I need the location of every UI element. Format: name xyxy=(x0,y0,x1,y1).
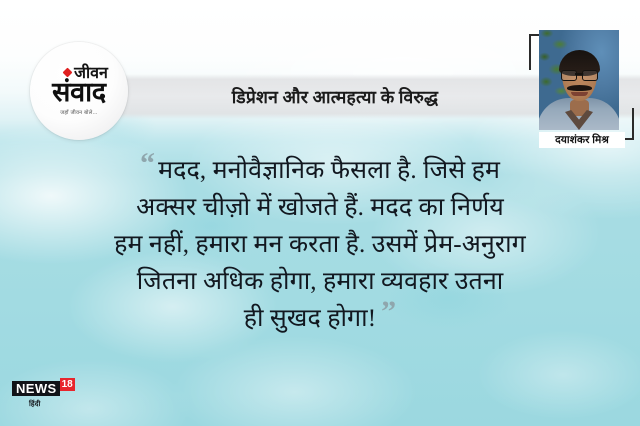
quote-line-text: ही सुखद होगा! xyxy=(244,305,376,332)
quote-line: ही सुखद होगा!” xyxy=(0,300,640,337)
author-photo xyxy=(539,30,619,130)
logo-tagline: जहाँ जीवन बोले... xyxy=(60,108,98,116)
photo-eyeglasses-icon xyxy=(561,70,598,80)
logo-word-jeevan: जीवन xyxy=(74,66,108,82)
quote-line: अक्सर चीज़ो में खोजते हैं. मदद का निर्णय xyxy=(0,189,640,226)
page-title: डिप्रेशन और आत्महत्या के विरुद्ध xyxy=(150,79,520,115)
quote-line-text: मदद, मनोवैज्ञानिक फैसला है. जिसे हम xyxy=(158,157,500,184)
logo-word-samvad: संवाद xyxy=(52,79,106,107)
photo-mouth xyxy=(571,92,588,96)
close-quote-icon: ” xyxy=(381,295,396,328)
news18-number-badge: 18 xyxy=(60,378,75,391)
logo-top-row: जीवन xyxy=(64,66,108,82)
open-quote-icon: “ xyxy=(140,147,155,180)
news18-hindi-logo[interactable]: NEWS 18 हिंदी xyxy=(12,381,90,413)
jeevan-samvad-logo[interactable]: जीवन संवाद जहाँ जीवन बोले... xyxy=(30,42,128,140)
news18-language-label: हिंदी xyxy=(29,400,90,409)
logo-red-dot-icon xyxy=(63,68,73,78)
quote-card: डिप्रेशन और आत्महत्या के विरुद्ध जीवन सं… xyxy=(0,0,640,426)
quote-line: “मदद, मनोवैज्ञानिक फैसला है. जिसे हम xyxy=(0,152,640,189)
quote-block: “मदद, मनोवैज्ञानिक फैसला है. जिसे हम अक्… xyxy=(0,152,640,337)
quote-line-text: अक्सर चीज़ो में खोजते हैं. मदद का निर्णय xyxy=(136,194,504,221)
photo-glasses-bridge xyxy=(575,73,584,75)
quote-line: हम नहीं, हमारा मन करता है. उसमें प्रेम-अ… xyxy=(0,226,640,263)
quote-line-text: हम नहीं, हमारा मन करता है. उसमें प्रेम-अ… xyxy=(114,231,526,258)
author-block: दयाशंकर मिश्र xyxy=(529,28,634,140)
news18-logo-row: NEWS 18 xyxy=(12,381,90,398)
photo-mustache xyxy=(567,85,592,91)
quote-line-text: जितना अधिक होगा, हमारा व्यवहार उतना xyxy=(137,268,504,295)
quote-line: जितना अधिक होगा, हमारा व्यवहार उतना xyxy=(0,263,640,300)
news18-wordmark: NEWS xyxy=(12,381,60,396)
author-name-plate: दयाशंकर मिश्र xyxy=(539,132,625,148)
